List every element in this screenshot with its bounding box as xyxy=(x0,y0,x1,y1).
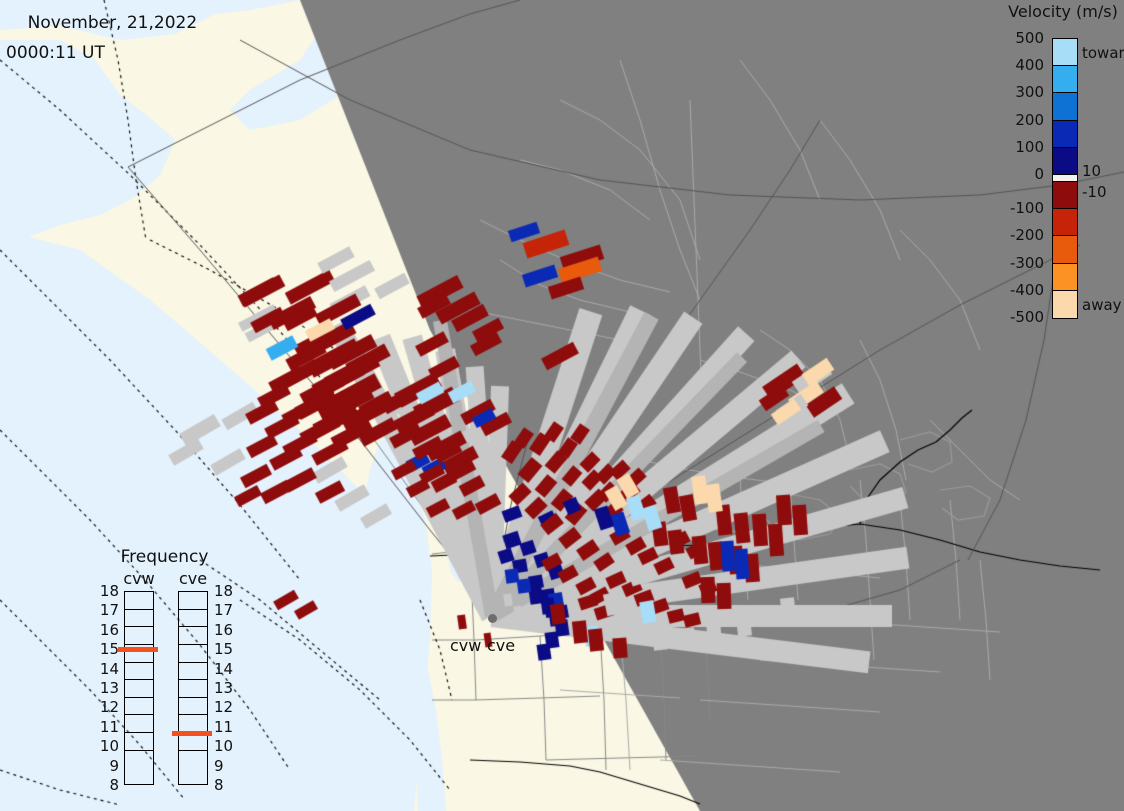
frequency-scale-cell xyxy=(125,663,153,681)
colorbar-tick-label: 400 xyxy=(1015,56,1044,74)
frequency-tick-label: 8 xyxy=(97,776,119,794)
frequency-tick-label: 12 xyxy=(97,698,119,716)
frequency-scale-cell xyxy=(125,751,153,769)
colorbar-tick-label: 0 xyxy=(1034,165,1044,183)
frequency-scale-cve xyxy=(178,591,208,785)
colorbar-tick-label: -200 xyxy=(1010,226,1044,244)
station-label-cve: cve xyxy=(487,636,515,655)
colorbar-neg-threshold-label: -10 xyxy=(1082,183,1107,201)
colorbar-segment xyxy=(1053,93,1077,120)
colorbar-segment xyxy=(1053,264,1077,291)
frequency-marker-cve xyxy=(172,731,212,736)
frequency-tick-label: 14 xyxy=(97,660,119,678)
frequency-tick-label: 18 xyxy=(214,582,236,600)
frequency-scale-cell xyxy=(125,733,153,751)
colorbar-toward-label: toward xyxy=(1082,44,1124,62)
colorbar-segment xyxy=(1053,66,1077,93)
frequency-tick-label: 16 xyxy=(214,621,236,639)
frequency-scale-cell xyxy=(125,592,153,610)
frequency-tick-label: 16 xyxy=(97,621,119,639)
colorbar-tick-label: -400 xyxy=(1010,281,1044,299)
frequency-tick-label: 15 xyxy=(214,640,236,658)
frequency-legend-title: Frequency xyxy=(92,547,237,567)
frequency-scale-cell xyxy=(179,592,207,610)
frequency-scale-cell xyxy=(179,610,207,628)
colorbar-tick-label: 200 xyxy=(1015,111,1044,129)
frequency-scale-cell xyxy=(125,627,153,645)
frequency-scale-cell xyxy=(179,680,207,698)
frequency-tick-label: 13 xyxy=(214,679,236,697)
frequency-column-label-cve: cve xyxy=(166,569,220,588)
colorbar-segment xyxy=(1053,182,1077,209)
frequency-tick-label: 12 xyxy=(214,698,236,716)
colorbar-segment xyxy=(1053,291,1077,318)
frequency-tick-label: 9 xyxy=(97,757,119,775)
frequency-marker-cvw xyxy=(118,647,158,652)
colorbar-segment xyxy=(1053,39,1077,66)
frequency-tick-label: 15 xyxy=(97,640,119,658)
frequency-tick-label: 17 xyxy=(97,601,119,619)
colorbar-segment xyxy=(1053,148,1077,175)
time-label: 0000:11 UT xyxy=(6,46,197,61)
colorbar-tick-label: 500 xyxy=(1015,29,1044,47)
frequency-tick-label: 11 xyxy=(214,718,236,736)
frequency-scale-cell xyxy=(125,698,153,716)
frequency-tick-label: 13 xyxy=(97,679,119,697)
frequency-tick-label: 17 xyxy=(214,601,236,619)
colorbar-pos-threshold-label: 10 xyxy=(1082,162,1101,180)
colorbar-segment xyxy=(1053,236,1077,263)
date-label: November, 21,2022 xyxy=(28,13,198,33)
frequency-scale-cell xyxy=(125,610,153,628)
frequency-scale-cell xyxy=(125,715,153,733)
frequency-scale-cell xyxy=(179,663,207,681)
colorbar-segment xyxy=(1053,175,1077,182)
frequency-tick-label: 8 xyxy=(214,776,236,794)
colorbar-tick-label: -300 xyxy=(1010,254,1044,272)
frequency-tick-label: 10 xyxy=(97,737,119,755)
frequency-tick-label: 10 xyxy=(214,737,236,755)
frequency-scale-cell xyxy=(179,733,207,751)
frequency-tick-label: 14 xyxy=(214,660,236,678)
colorbar-segment xyxy=(1053,209,1077,236)
frequency-scale-cvw xyxy=(124,591,154,785)
frequency-column-label-cvw: cvw xyxy=(112,569,166,588)
frequency-scale-cell xyxy=(179,698,207,716)
frequency-tick-label: 18 xyxy=(97,582,119,600)
colorbar-tick-label: -500 xyxy=(1010,308,1044,326)
colorbar-tick-label: -100 xyxy=(1010,199,1044,217)
frequency-scale-cell xyxy=(179,645,207,663)
colorbar-segment xyxy=(1053,121,1077,148)
frequency-tick-label: 11 xyxy=(97,718,119,736)
colorbar-gradient xyxy=(1052,38,1078,319)
frequency-tick-label: 9 xyxy=(214,757,236,775)
colorbar-title: Velocity (m/s) xyxy=(1004,2,1122,21)
colorbar-tick-label: 100 xyxy=(1015,138,1044,156)
frequency-scale-cell xyxy=(179,751,207,769)
colorbar-away-label: away xyxy=(1082,296,1122,314)
frequency-scale-cell xyxy=(125,680,153,698)
radar-site-marker xyxy=(488,614,497,623)
station-label-cvw: cvw xyxy=(450,636,481,655)
timestamp-title: November, 21,2022 0000:11 UT xyxy=(6,1,197,91)
velocity-colorbar: Velocity (m/s) 5004003002001000-100-200-… xyxy=(1004,0,1124,330)
frequency-legend: Frequency cvw18171615141312111098cve1817… xyxy=(92,547,237,792)
colorbar-tick-label: 300 xyxy=(1015,83,1044,101)
radar-map-screenshot: November, 21,2022 0000:11 UT Velocity (m… xyxy=(0,0,1124,811)
frequency-scale-cell xyxy=(179,627,207,645)
